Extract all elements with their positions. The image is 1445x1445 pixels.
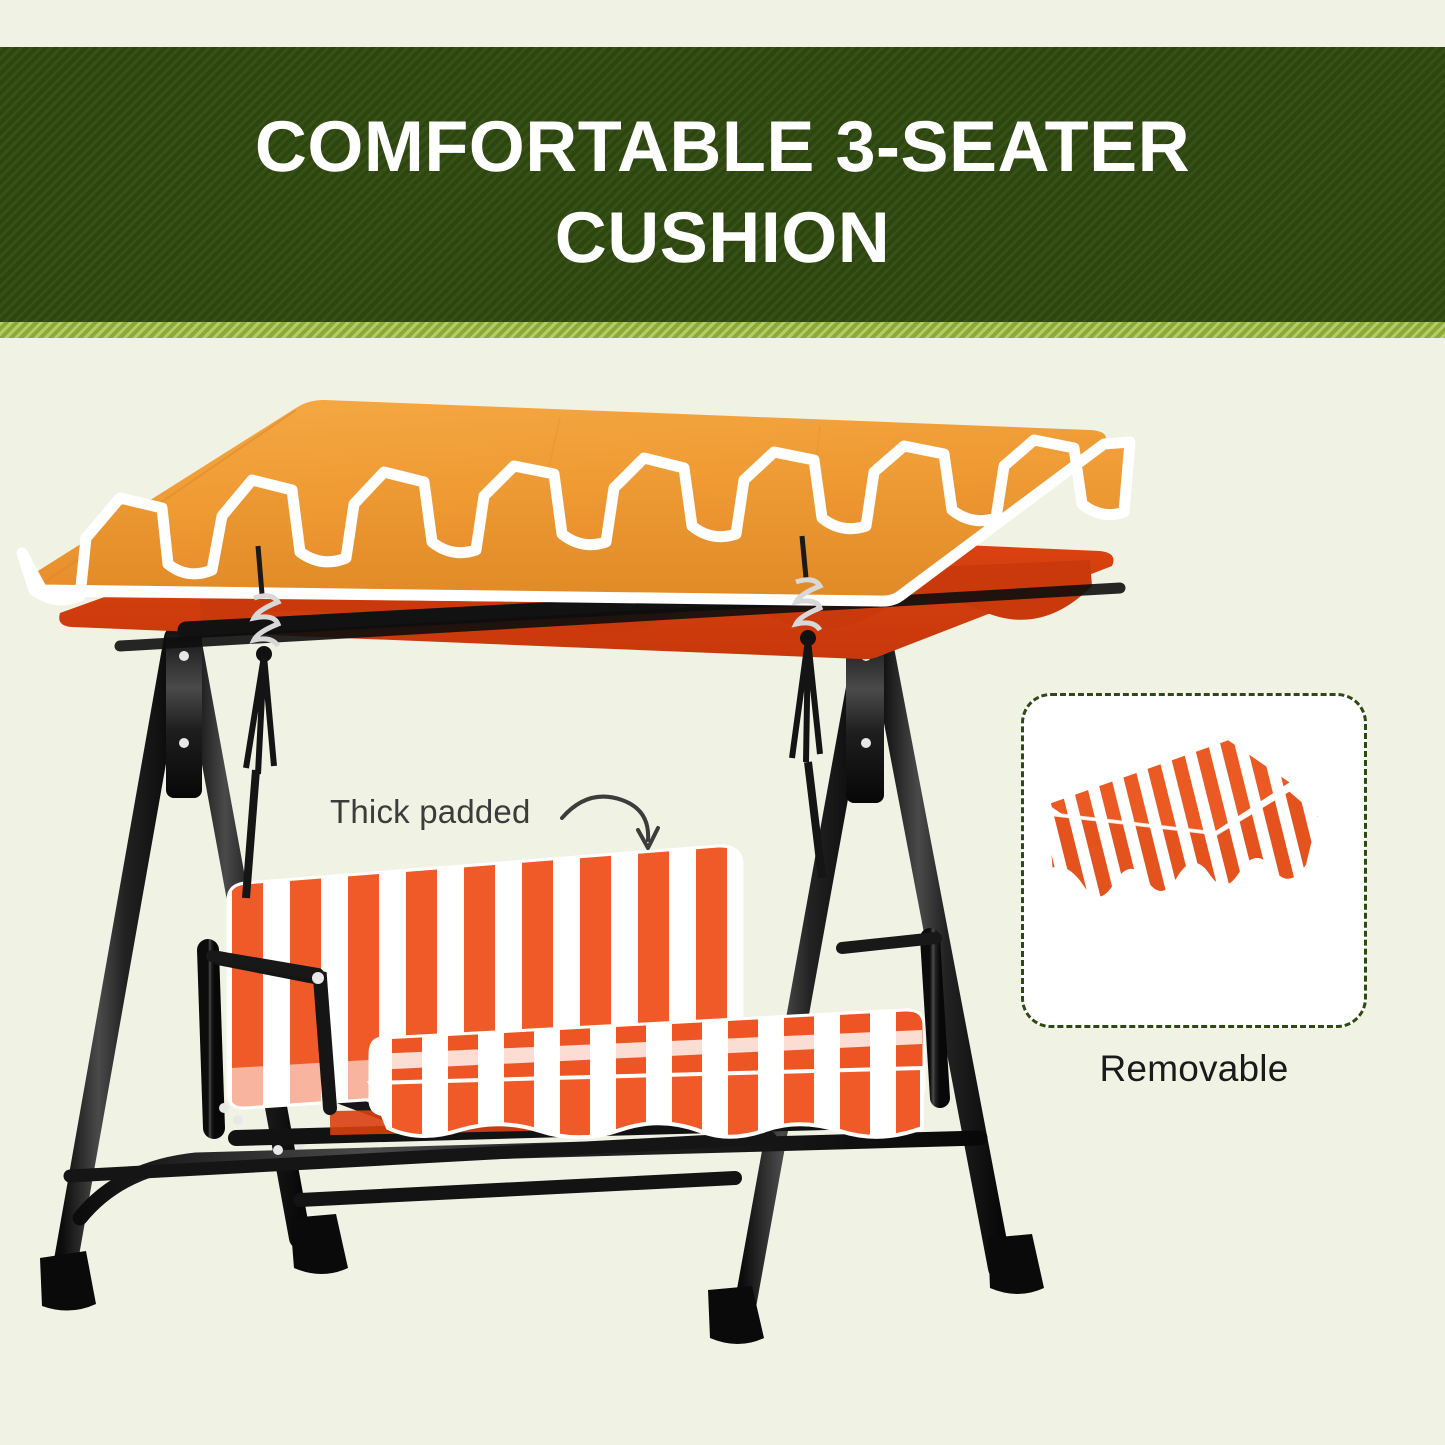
callout-arrow-icon: [558, 782, 668, 860]
title-line-1: COMFORTABLE 3-SEATER: [255, 107, 1190, 187]
title-line-2: CUSHION: [555, 198, 891, 278]
removable-label: Removable: [1021, 1048, 1367, 1090]
product-marketing-image: COMFORTABLE 3-SEATERCUSHION: [0, 0, 1445, 1445]
banner-accent-stripe-bottom: [0, 322, 1445, 338]
frame-foot-front-left: [290, 1214, 348, 1274]
frame-foot-rear-left: [40, 1251, 96, 1311]
frame-front-rail: [300, 1178, 735, 1200]
frame-foot-rear-right: [988, 1234, 1044, 1294]
removable-cushion-inset: [1021, 693, 1367, 1028]
header-banner: COMFORTABLE 3-SEATERCUSHION: [0, 47, 1445, 338]
swing-hanger-left: [246, 770, 256, 898]
callout-thick-padded-label: Thick padded: [330, 793, 531, 831]
page-title: COMFORTABLE 3-SEATERCUSHION: [93, 102, 1353, 283]
